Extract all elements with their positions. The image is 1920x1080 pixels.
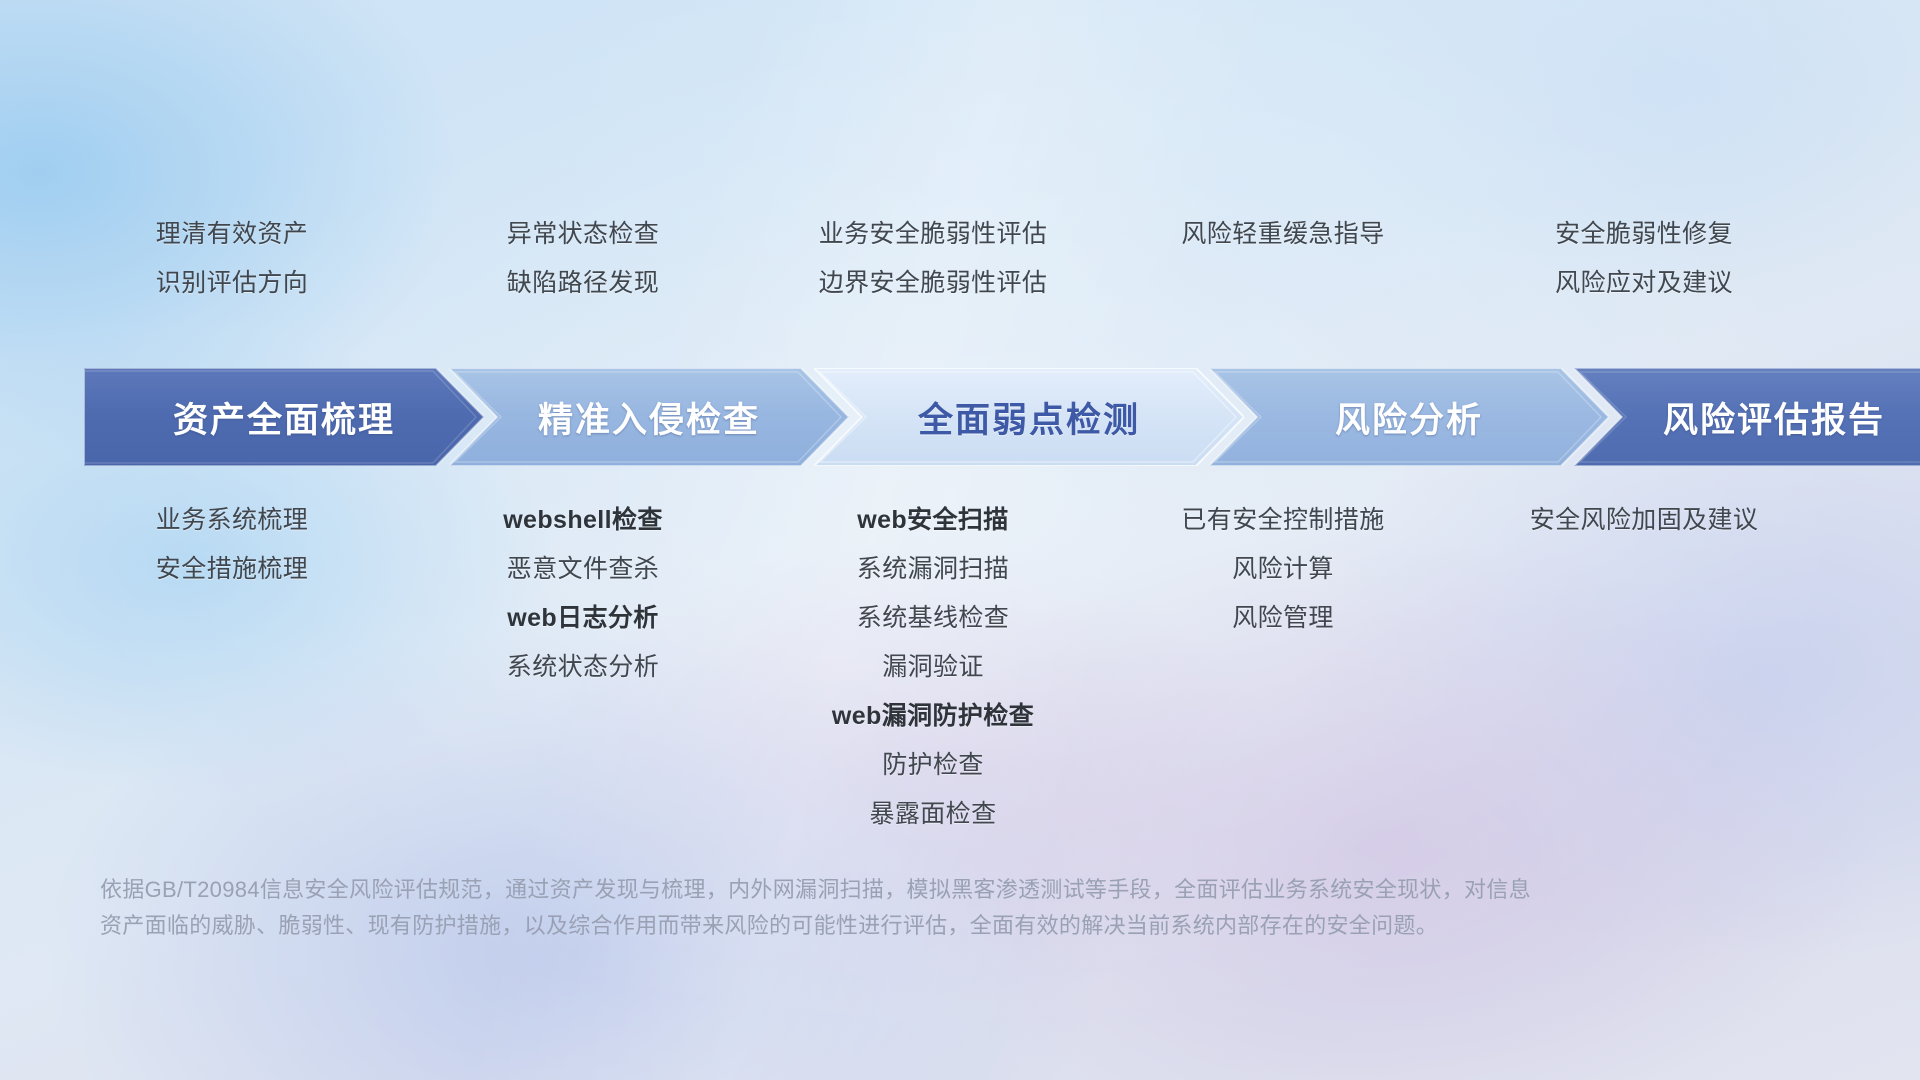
input-label: 理清有效资产 <box>156 222 308 247</box>
output-label: 安全风险加固及建议 <box>1530 508 1759 533</box>
process-step-label: 精准入侵检查 <box>538 392 760 443</box>
process-step-label: 风险分析 <box>1335 392 1483 443</box>
input-group-step-2: 异常状态检查 缺陷路径发现 <box>418 222 748 296</box>
output-label: 暴露面检查 <box>869 802 996 827</box>
input-label: 风险轻重缓急指导 <box>1181 222 1384 247</box>
input-labels-row: 理清有效资产 识别评估方向 异常状态检查 缺陷路径发现 业务安全脆弱性评估 边界… <box>0 222 1920 296</box>
output-label: webshell检查 <box>503 508 663 533</box>
output-group-step-4: 已有安全控制措施 风险计算 风险管理 <box>1118 508 1448 631</box>
diagram-content: 理清有效资产 识别评估方向 异常状态检查 缺陷路径发现 业务安全脆弱性评估 边界… <box>0 0 1920 1080</box>
output-label: 已有安全控制措施 <box>1181 508 1384 533</box>
footer-line-2: 资产面临的威胁、脆弱性、现有防护措施，以及综合作用而带来风险的可能性进行评估，全… <box>100 908 1660 944</box>
input-label: 识别评估方向 <box>156 271 308 296</box>
process-step-5[interactable]: 风险评估报告 <box>1574 368 1920 466</box>
process-step-label: 全面弱点检测 <box>918 392 1140 443</box>
input-label: 业务安全脆弱性评估 <box>819 222 1048 247</box>
output-label: 业务系统梳理 <box>156 508 308 533</box>
output-label: web安全扫描 <box>857 508 1008 533</box>
process-step-3[interactable]: 全面弱点检测 <box>814 368 1244 466</box>
input-group-step-1: 理清有效资产 识别评估方向 <box>46 222 418 296</box>
process-chevron-band: 资产全面梳理 精 <box>84 368 1854 466</box>
output-label: 风险管理 <box>1232 606 1334 631</box>
output-label: 系统基线检查 <box>857 606 1009 631</box>
process-step-label: 资产全面梳理 <box>173 392 395 443</box>
process-step-1[interactable]: 资产全面梳理 <box>84 368 484 466</box>
footer-line-1: 依据GB/T20984信息安全风险评估规范，通过资产发现与梳理，内外网漏洞扫描，… <box>100 872 1660 908</box>
input-label: 缺陷路径发现 <box>507 271 659 296</box>
process-step-4[interactable]: 风险分析 <box>1209 368 1609 466</box>
output-group-step-2: webshell检查 恶意文件查杀 web日志分析 系统状态分析 <box>418 508 748 680</box>
output-labels-row: 业务系统梳理 安全措施梳理 webshell检查 恶意文件查杀 web日志分析 … <box>0 508 1920 827</box>
input-label: 异常状态检查 <box>507 222 659 247</box>
output-label: 防护检查 <box>882 753 984 778</box>
output-label: web日志分析 <box>507 606 658 631</box>
output-group-step-5: 安全风险加固及建议 <box>1448 508 1840 533</box>
output-label: 系统状态分析 <box>507 655 659 680</box>
input-label: 边界安全脆弱性评估 <box>819 271 1048 296</box>
output-label: 漏洞验证 <box>882 655 984 680</box>
output-label: 安全措施梳理 <box>156 557 308 582</box>
slide-canvas: 理清有效资产 识别评估方向 异常状态检查 缺陷路径发现 业务安全脆弱性评估 边界… <box>0 0 1920 1080</box>
output-group-step-1: 业务系统梳理 安全措施梳理 <box>46 508 418 582</box>
process-step-label: 风险评估报告 <box>1663 392 1885 443</box>
output-group-step-3: web安全扫描 系统漏洞扫描 系统基线检查 漏洞验证 web漏洞防护检查 防护检… <box>748 508 1118 827</box>
output-label: 恶意文件查杀 <box>507 557 659 582</box>
input-group-step-3: 业务安全脆弱性评估 边界安全脆弱性评估 <box>748 222 1118 296</box>
output-label: 系统漏洞扫描 <box>857 557 1009 582</box>
process-step-2[interactable]: 精准入侵检查 <box>449 368 849 466</box>
input-label: 风险应对及建议 <box>1555 271 1733 296</box>
input-label: 安全脆弱性修复 <box>1555 222 1733 247</box>
output-label: 风险计算 <box>1232 557 1334 582</box>
output-label: web漏洞防护检查 <box>832 704 1034 729</box>
footer-description: 依据GB/T20984信息安全风险评估规范，通过资产发现与梳理，内外网漏洞扫描，… <box>100 872 1660 943</box>
input-group-step-5: 安全脆弱性修复 风险应对及建议 <box>1448 222 1840 296</box>
input-group-step-4: 风险轻重缓急指导 <box>1118 222 1448 247</box>
